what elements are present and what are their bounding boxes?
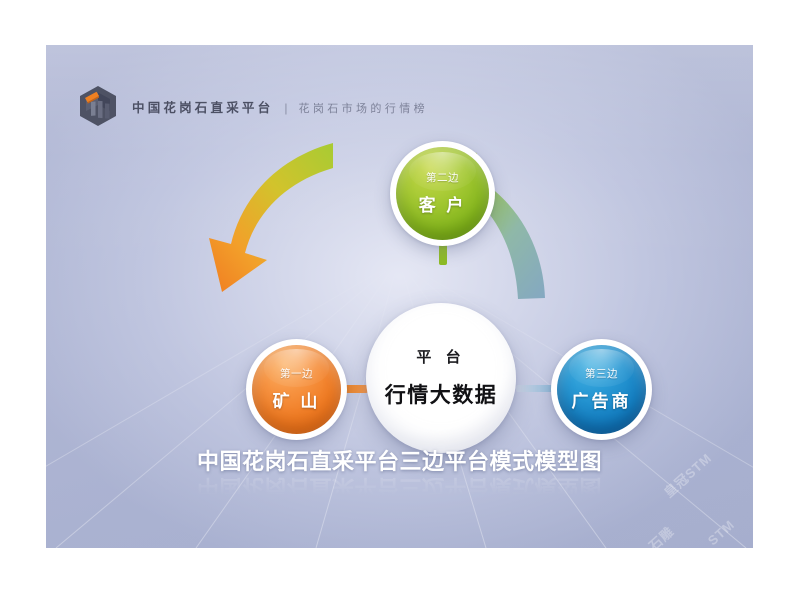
node-sphere: 第一边 矿 山 xyxy=(252,345,341,434)
brand-bar: 中国花岗石直采平台 | 花岗石市场的行情榜 xyxy=(78,85,428,127)
node-name-label: 广告商 xyxy=(572,393,632,410)
center-main-label: 行情大数据 xyxy=(385,385,498,406)
node-sphere: 第二边 客 户 xyxy=(396,147,489,240)
node-side-label: 第一边 xyxy=(280,369,313,380)
connector-center-to-green xyxy=(439,243,447,265)
brand-name: 中国花岗石直采平台 xyxy=(132,97,273,116)
title-block: 中国花岗石直采平台三边平台模式模型图 中国花岗石直采平台三边平台模式模型图 xyxy=(46,451,753,498)
slide-canvas: 中国花岗石直采平台 | 花岗石市场的行情榜 xyxy=(46,45,753,548)
cube-logo-icon xyxy=(78,85,118,127)
node-advertiser[interactable]: 第三边 广告商 xyxy=(551,339,652,440)
node-customer[interactable]: 第二边 客 户 xyxy=(390,141,495,246)
node-sphere: 第三边 广告商 xyxy=(557,345,646,434)
brand-separator: | xyxy=(284,101,287,115)
center-top-label: 平 台 xyxy=(416,350,465,365)
node-name-label: 客 户 xyxy=(419,197,467,214)
node-ring xyxy=(366,303,516,453)
brand-slogan: 花岗石市场的行情榜 xyxy=(298,100,428,116)
node-mine[interactable]: 第一边 矿 山 xyxy=(246,339,347,440)
node-platform-center[interactable]: 平 台 行情大数据 xyxy=(366,303,516,453)
node-side-label: 第三边 xyxy=(585,369,618,380)
slide-title-reflection: 中国花岗石直采平台三边平台模式模型图 xyxy=(46,476,753,498)
node-name-label: 矿 山 xyxy=(273,393,321,410)
watermark: STM xyxy=(705,517,738,548)
node-side-label: 第二边 xyxy=(426,173,459,184)
slide-title: 中国花岗石直采平台三边平台模式模型图 xyxy=(46,451,753,473)
watermark: stm石雕 xyxy=(625,521,678,548)
connector-center-to-blue xyxy=(516,385,554,392)
arrow-green-to-orange xyxy=(209,143,333,292)
